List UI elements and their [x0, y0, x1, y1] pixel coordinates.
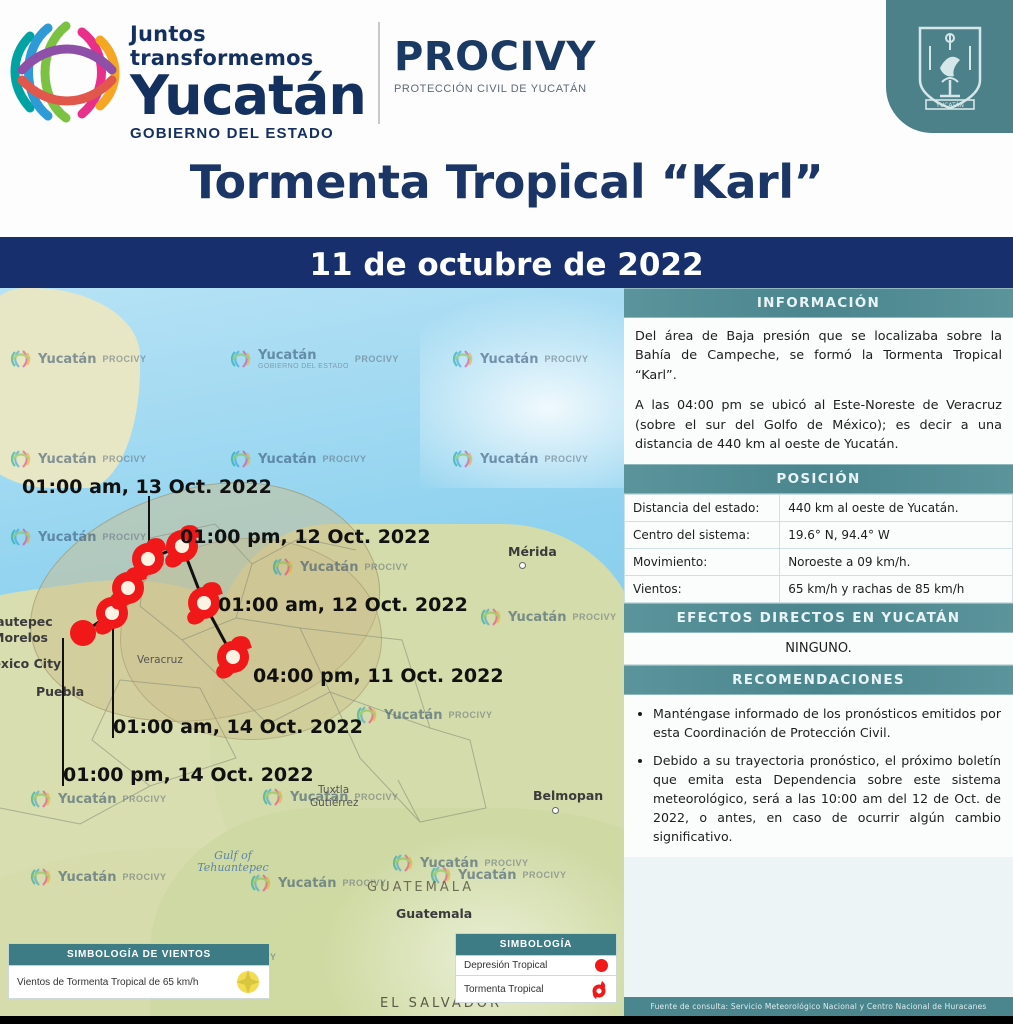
track-point-tropical-depression[interactable]	[70, 620, 96, 646]
city-label: Cuautepec	[0, 614, 53, 629]
agency-wordmark: PROCIVY PROTECCIÓN CIVIL DE YUCATÁN	[394, 34, 596, 95]
informacion-heading: INFORMACIÓN	[624, 288, 1013, 318]
track-point-tropical-storm[interactable]	[186, 585, 222, 621]
date-band: 11 de octubre de 2022	[0, 237, 1013, 288]
brand-wordmark: Juntos transformemos Yucatán GOBIERNO DE…	[130, 22, 370, 130]
cyclone-icon	[590, 979, 608, 999]
map-overlay-svg	[0, 288, 624, 1016]
list-item: Manténgase informado de los pronósticos …	[653, 705, 1001, 743]
symbol-legend[interactable]: SIMBOLOGÍA Depresión Tropical Tormenta T…	[455, 933, 617, 1003]
bulletin-panel: INFORMACIÓN Del área de Baja presión que…	[624, 288, 1013, 1016]
header-divider	[378, 22, 380, 124]
symbol-legend-label: Tormenta Tropical	[464, 984, 543, 995]
track-point-tropical-storm[interactable]	[215, 639, 251, 675]
recomendaciones-heading: RECOMENDACIONES	[624, 665, 1013, 695]
country-label: GUATEMALA	[367, 880, 474, 895]
track-time-label: 01:00 am, 13 Oct. 2022	[22, 476, 272, 498]
wind-cross-icon	[235, 969, 261, 995]
source-footnote: Fuente de consulta: Servicio Meteorológi…	[624, 997, 1013, 1016]
list-item: Debido a su trayectoria pronóstico, el p…	[653, 752, 1001, 846]
page-title: Tormenta Tropical “Karl”	[0, 155, 1013, 209]
posicion-table: Distancia del estado: 440 km al oeste de…	[624, 494, 1013, 603]
city-label: Mérida	[508, 544, 557, 559]
geo-label: Gulf ofTehuantepec	[178, 850, 288, 874]
bottom-black-bar	[0, 1016, 1013, 1024]
city-marker	[552, 807, 559, 814]
recomendaciones-body: Manténgase informado de los pronósticos …	[624, 695, 1013, 857]
city-marker	[519, 562, 526, 569]
posicion-value: 440 km al oeste de Yucatán.	[780, 494, 1013, 521]
posicion-heading: POSICIÓN	[624, 464, 1013, 494]
header-bar: Juntos transformemos Yucatán GOBIERNO DE…	[0, 0, 1013, 143]
track-point-tropical-storm[interactable]	[130, 541, 166, 577]
table-row: Centro del sistema: 19.6° N, 94.4° W	[625, 521, 1013, 548]
agency-subtitle: PROTECCIÓN CIVIL DE YUCATÁN	[394, 83, 596, 95]
posicion-value: 19.6° N, 94.4° W	[780, 521, 1013, 548]
informacion-paragraph: Del área de Baja presión que se localiza…	[635, 327, 1002, 385]
yucatan-logo-icon	[8, 18, 126, 128]
efectos-value: NINGUNO.	[624, 633, 1013, 665]
symbol-legend-heading: SIMBOLOGÍA	[455, 933, 617, 956]
symbol-legend-row[interactable]: Tormenta Tropical	[455, 976, 617, 1003]
city-label: Belmopan	[533, 788, 603, 803]
city-label: Veracruz	[137, 654, 183, 666]
symbol-legend-row[interactable]: Depresión Tropical	[455, 956, 617, 976]
posicion-key: Movimiento:	[625, 548, 780, 575]
agency-name: PROCIVY	[394, 34, 596, 80]
state-seal-panel: YUCATÁN	[886, 0, 1013, 133]
table-row: Distancia del estado: 440 km al oeste de…	[625, 494, 1013, 521]
wind-legend[interactable]: SIMBOLOGÍA DE VIENTOS Vientos de Torment…	[8, 943, 270, 999]
table-row: Movimiento: Noroeste a 09 km/h.	[625, 548, 1013, 575]
brand-line1: Juntos transformemos	[130, 22, 370, 70]
posicion-key: Distancia del estado:	[625, 494, 780, 521]
brand-line2: Yucatán	[130, 70, 370, 121]
informacion-body: Del área de Baja presión que se localiza…	[624, 318, 1013, 464]
efectos-heading: EFECTOS DIRECTOS EN YUCATÁN	[624, 603, 1013, 633]
city-label: Tuxtla	[318, 784, 349, 796]
infographic-page: Juntos transformemos Yucatán GOBIERNO DE…	[0, 0, 1013, 1024]
forecast-track-map[interactable]: Yucatán PROCIVY YucatánGOBIERNO DEL ESTA…	[0, 288, 624, 1016]
red-dot-icon	[595, 959, 608, 972]
wind-legend-heading: SIMBOLOGÍA DE VIENTOS	[8, 943, 270, 966]
city-label: Gutiérrez	[310, 797, 358, 809]
brand-line3: GOBIERNO DEL ESTADO	[130, 125, 370, 142]
informacion-paragraph: A las 04:00 pm se ubicó al Este-Noreste …	[635, 396, 1002, 454]
city-label: Mexico City	[0, 656, 61, 671]
bulletin-date: 11 de octubre de 2022	[0, 247, 1013, 283]
track-time-label: 01:00 am, 12 Oct. 2022	[218, 594, 468, 616]
symbol-legend-label: Depresión Tropical	[464, 960, 547, 971]
track-time-label: 01:00 am, 14 Oct. 2022	[113, 716, 363, 738]
posicion-value: 65 km/h y rachas de 85 km/h	[780, 575, 1013, 602]
table-row: Vientos: 65 km/h y rachas de 85 km/h	[625, 575, 1013, 602]
track-time-label: 01:00 pm, 14 Oct. 2022	[63, 764, 314, 786]
posicion-key: Centro del sistema:	[625, 521, 780, 548]
title-band: Tormenta Tropical “Karl”	[0, 143, 1013, 237]
track-time-label: 04:00 pm, 11 Oct. 2022	[253, 665, 504, 687]
posicion-key: Vientos:	[625, 575, 780, 602]
yucatan-coat-of-arms-icon: YUCATÁN	[914, 24, 986, 112]
seal-label: YUCATÁN	[935, 102, 964, 109]
city-label: Puebla	[36, 684, 84, 699]
wind-legend-row[interactable]: Vientos de Tormenta Tropical de 65 km/h	[8, 966, 270, 999]
track-time-label: 01:00 pm, 12 Oct. 2022	[180, 526, 431, 548]
city-label: Guatemala	[396, 906, 472, 921]
wind-legend-label: Vientos de Tormenta Tropical de 65 km/h	[17, 977, 198, 988]
city-label: Morelos	[0, 630, 48, 645]
posicion-value: Noroeste a 09 km/h.	[780, 548, 1013, 575]
